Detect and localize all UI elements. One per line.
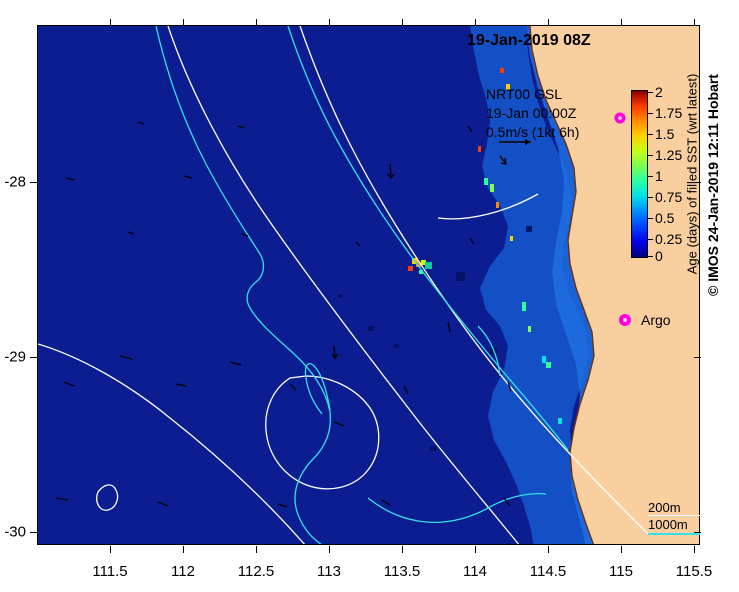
page-title: 19-Jan-2019 08Z bbox=[467, 32, 591, 50]
y-tick-label: -30 bbox=[0, 524, 26, 541]
x-tick-label: 115 bbox=[609, 563, 633, 580]
credit-text: © IMOS 24-Jan-2019 12:11 Hobart bbox=[705, 74, 721, 296]
x-tick-label: 113 bbox=[317, 563, 341, 580]
x-tick-label: 115.5 bbox=[676, 563, 712, 580]
x-tick-label: 112 bbox=[171, 563, 195, 580]
x-tick-label: 112.5 bbox=[238, 563, 274, 580]
credit-line: © IMOS 24-Jan-2019 12:11 Hobart bbox=[705, 296, 725, 297]
argo-marker-icon bbox=[618, 313, 632, 327]
argo-legend[interactable]: Argo bbox=[618, 312, 671, 328]
current-scale-arrow-icon bbox=[498, 136, 538, 148]
depth-1000m-label: 1000m bbox=[648, 517, 700, 532]
x-tick-label: 113.5 bbox=[384, 563, 420, 580]
colorbar-tick-label: 1.75 bbox=[655, 105, 682, 121]
figure-canvas: 19-Jan-2019 08Z NRT00 GSL 19-Jan 00:00Z … bbox=[0, 0, 739, 592]
y-tick-label: -28 bbox=[0, 174, 26, 191]
colorbar-tick-label: 1.5 bbox=[655, 126, 674, 142]
depth-200m-label: 200m bbox=[648, 500, 700, 515]
annotation-line-2: 19-Jan 00:00Z bbox=[486, 104, 579, 123]
colorbar-tick-label: 0.25 bbox=[655, 231, 682, 247]
depth-1000m-line-swatch bbox=[648, 533, 700, 535]
annotation-line-1: NRT00 GSL bbox=[486, 85, 579, 104]
depth-200m-line-swatch bbox=[648, 515, 700, 516]
x-tick-label: 114.5 bbox=[530, 563, 566, 580]
colorbar-tick-label: 0.5 bbox=[655, 210, 674, 226]
y-tick-label: -29 bbox=[0, 349, 26, 366]
current-annotation: NRT00 GSL 19-Jan 00:00Z 0.5m/s (1kt 6h) bbox=[486, 85, 579, 142]
map-plot-area[interactable]: 19-Jan-2019 08Z NRT00 GSL 19-Jan 00:00Z … bbox=[37, 25, 700, 545]
sst-age-raster bbox=[38, 26, 700, 545]
argo-float-marker bbox=[615, 113, 626, 124]
depth-contour-legend[interactable]: 200m 1000m bbox=[648, 500, 700, 535]
colorbar-gradient bbox=[631, 90, 648, 258]
colorbar-tick-label: 0.75 bbox=[655, 189, 682, 205]
colorbar-tick-label: 2 bbox=[655, 84, 663, 100]
current-vectors bbox=[48, 122, 511, 545]
colorbar-axis-title-text: Age (days) of filled SST (wrt latest) bbox=[685, 74, 700, 275]
colorbar-tick-label: 1.25 bbox=[655, 147, 682, 163]
x-tick-label: 114 bbox=[463, 563, 487, 580]
argo-legend-label: Argo bbox=[641, 312, 671, 328]
colorbar-axis-title: Age (days) of filled SST (wrt latest) bbox=[683, 90, 701, 258]
colorbar-tick-label: 1 bbox=[655, 168, 663, 184]
colorbar-tick-label: 0 bbox=[655, 248, 663, 264]
colorbar[interactable]: 2 1.75 1.5 1.25 1 0.75 0.5 0.25 0 Age (d… bbox=[631, 90, 701, 262]
x-tick-label: 111.5 bbox=[92, 563, 127, 580]
